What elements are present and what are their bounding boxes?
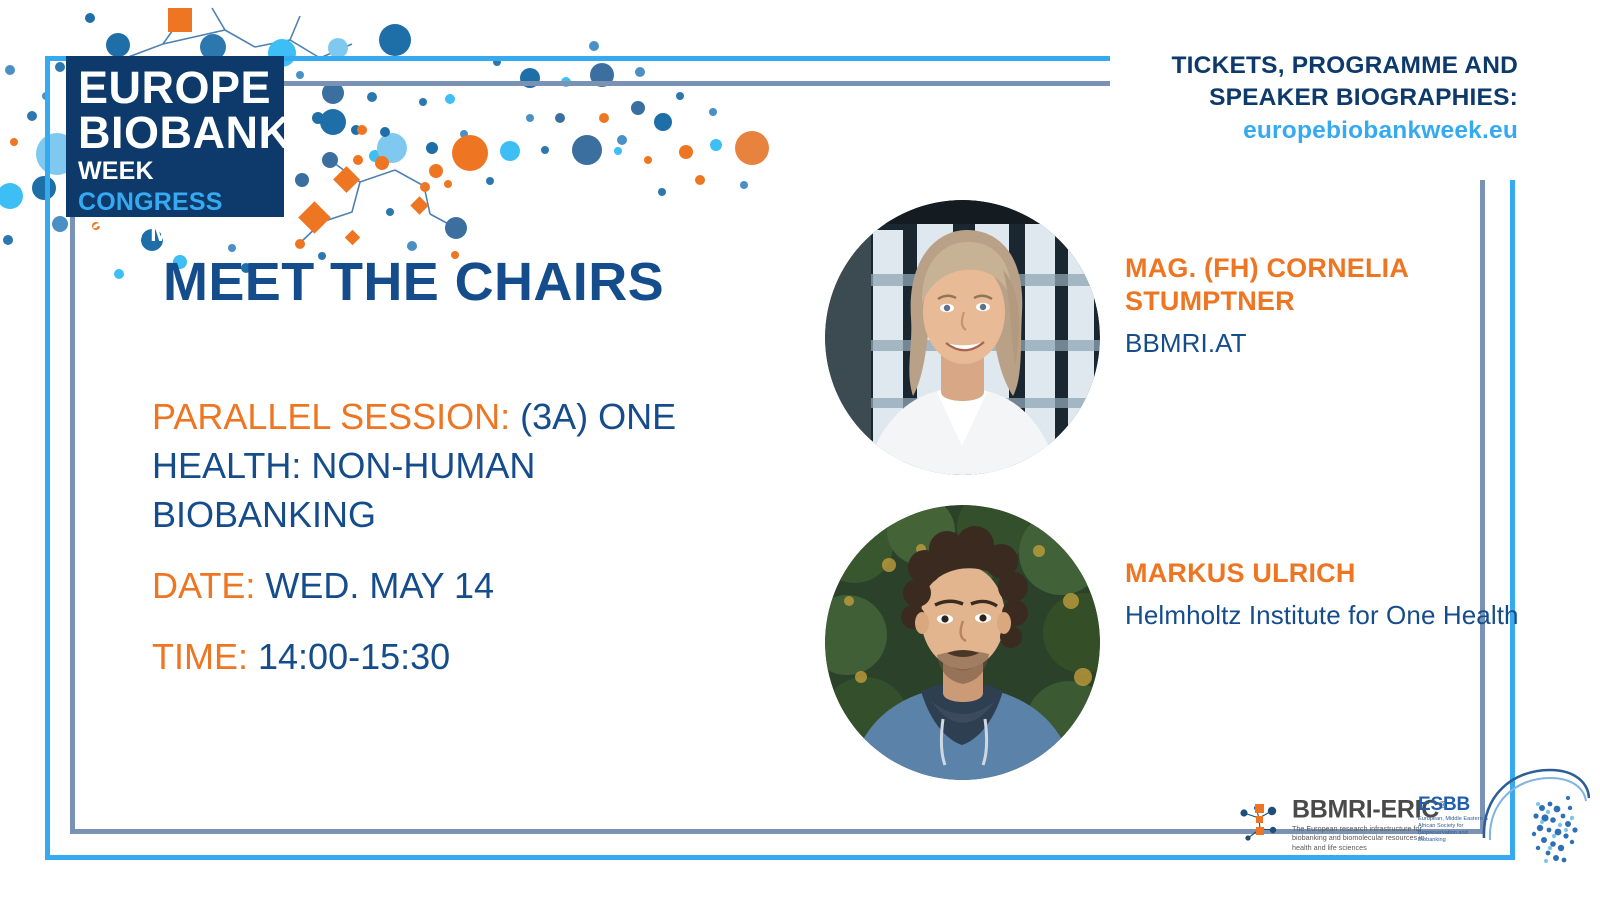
europe-biobank-week-logo: EUROPE BIOBANK WEEK CONGRESS 13-16 MAY 2… <box>66 56 284 217</box>
speaker-info-2: MARKUS ULRICH Helmholtz Institute for On… <box>1125 557 1525 631</box>
frame-outer-left <box>45 56 50 860</box>
esbb-globe-dots-icon <box>1480 768 1590 873</box>
logo-line-week-congress: WEEK CONGRESS <box>78 156 284 218</box>
esbb-name-label: ESBB <box>1418 795 1488 814</box>
date-line: DATE: WED. MAY 14 <box>152 561 722 610</box>
tickets-info-block: TICKETS, PROGRAMME AND SPEAKER BIOGRAPHI… <box>1098 50 1518 148</box>
tickets-line-1: TICKETS, PROGRAMME AND <box>1098 50 1518 82</box>
poster-canvas: EUROPE BIOBANK WEEK CONGRESS 13-16 MAY 2… <box>0 0 1600 900</box>
date-value: WED. MAY 14 <box>255 565 494 606</box>
time-value: 14:00-15:30 <box>248 636 450 677</box>
speaker-card-2: MARKUS ULRICH Helmholtz Institute for On… <box>825 505 1100 780</box>
speaker-info-1: MAG. (FH) CORNELIA STUMPTNER BBMRI.AT <box>1125 252 1525 359</box>
esbb-logo: ESBB European, Middle Eastern & African … <box>1418 795 1488 844</box>
website-url-link[interactable]: europebiobankweek.eu <box>1098 114 1518 148</box>
logo-line-europe: EUROPE <box>78 65 284 110</box>
session-label: PARALLEL SESSION: <box>152 396 510 437</box>
time-line: TIME: 14:00-15:30 <box>152 632 722 681</box>
logo-week-text: WEEK <box>78 157 154 185</box>
speaker-organization: BBMRI.AT <box>1125 328 1525 359</box>
time-label: TIME: <box>152 636 248 677</box>
bbmri-node-mark-icon <box>1237 799 1283 845</box>
tickets-line-2: SPEAKER BIOGRAPHIES: <box>1098 82 1518 114</box>
logo-line-dates: 13-16 MAY 2025 <box>78 218 284 248</box>
logo-line-biobank: BIOBANK <box>78 110 284 155</box>
page-title: MEET THE CHAIRS <box>163 252 664 312</box>
speaker-card-1: MAG. (FH) CORNELIA STUMPTNER BBMRI.AT <box>825 200 1100 475</box>
bbmri-name-label: BBMRI-ERIC <box>1292 795 1439 823</box>
speaker-name: MARKUS ULRICH <box>1125 557 1525 590</box>
session-details: PARALLEL SESSION: (3A) ONE HEALTH: NON-H… <box>152 392 722 681</box>
logo-congress-text: CONGRESS <box>78 188 223 216</box>
session-line: PARALLEL SESSION: (3A) ONE HEALTH: NON-H… <box>152 392 722 539</box>
speaker-organization: Helmholtz Institute for One Health <box>1125 600 1525 631</box>
bbmri-eric-logo: BBMRI-ERIC® The European research infras… <box>1237 793 1446 852</box>
speaker-name: MAG. (FH) CORNELIA STUMPTNER <box>1125 252 1525 318</box>
avatar <box>825 505 1100 780</box>
date-label: DATE: <box>152 565 255 606</box>
frame-outer-bottom <box>45 855 1515 860</box>
avatar <box>825 200 1100 475</box>
esbb-tagline: European, Middle Eastern & African Socie… <box>1418 816 1488 844</box>
